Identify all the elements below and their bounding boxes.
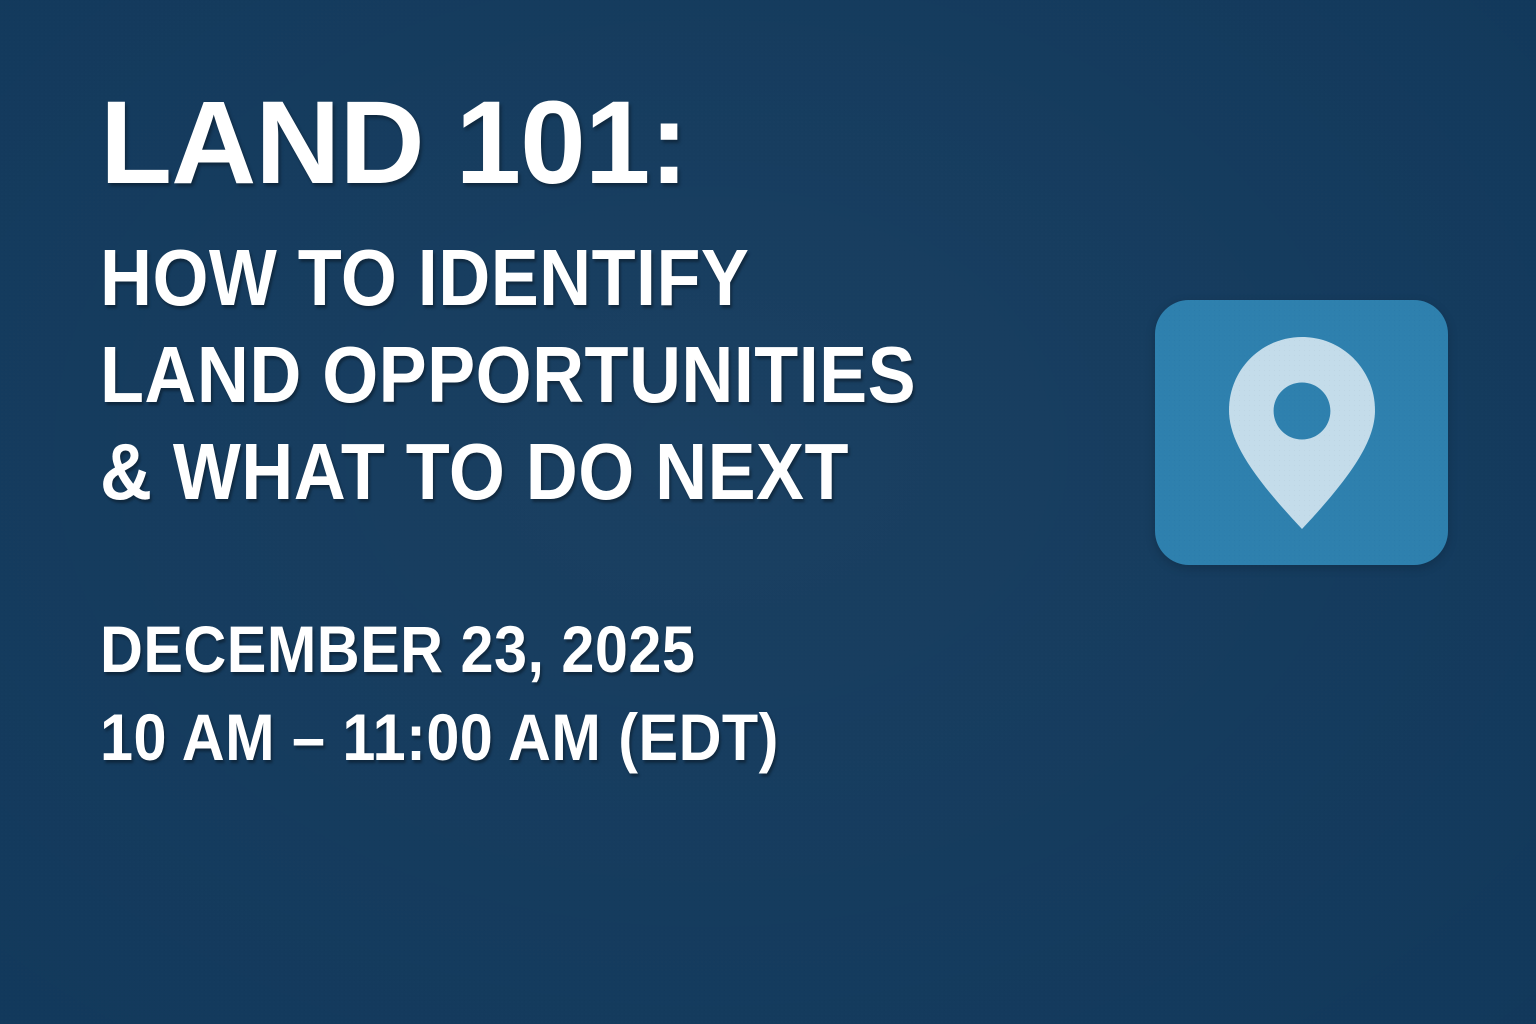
schedule-block: DECEMBER 23, 2025 10 AM – 11:00 AM (EDT) xyxy=(100,616,1160,770)
map-pin-tile xyxy=(1155,300,1448,565)
subtitle-line-2: LAND OPPORTUNITIES xyxy=(100,335,1054,415)
event-banner: LAND 101: HOW TO IDENTIFY LAND OPPORTUNI… xyxy=(0,0,1536,1024)
subtitle-line-1: HOW TO IDENTIFY xyxy=(100,238,1054,318)
event-time: 10 AM – 11:00 AM (EDT) xyxy=(100,704,1054,770)
map-pin-icon xyxy=(1226,335,1378,531)
event-date: DECEMBER 23, 2025 xyxy=(100,616,1054,682)
page-title: LAND 101: xyxy=(100,84,1160,202)
subtitle-line-3: & WHAT TO DO NEXT xyxy=(100,432,1054,512)
banner-text-block: LAND 101: HOW TO IDENTIFY LAND OPPORTUNI… xyxy=(100,84,1160,770)
